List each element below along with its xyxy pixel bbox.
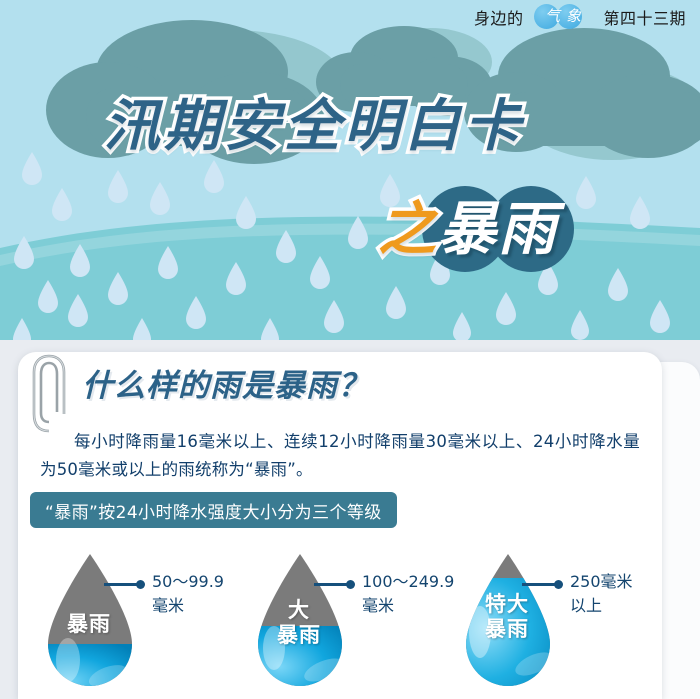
section-heading: 什么样的雨是暴雨？: [82, 366, 370, 406]
connector-dot-1: [136, 580, 145, 589]
rain-level-1-range-line1: 50～99.9: [152, 572, 224, 591]
paperclip-icon: [30, 352, 68, 438]
hero-title: 汛期安全明白卡: [104, 96, 524, 158]
rain-level-3-range-line2: 以上: [570, 596, 602, 615]
subtitle-prefix: 之: [378, 195, 438, 263]
series-label: 身边的: [474, 5, 524, 29]
hero-banner: 身边的 气象 第四十三期 汛期安全明白卡 之暴雨: [0, 0, 700, 340]
rain-level-3: 特大 暴雨 250毫米 以上: [452, 548, 564, 699]
section-banner: “暴雨”按24小时降水强度大小分为三个等级: [30, 492, 397, 528]
rain-level-group: 暴雨 50～99.9 毫米: [0, 548, 700, 699]
raindrop-2-label: 大 暴雨: [244, 598, 354, 648]
connector-2: [314, 580, 360, 588]
section-paragraph: 每小时降雨量16毫米以上、连续12小时降雨量30毫米以上、24小时降水量为50毫…: [40, 428, 640, 484]
connector-line-2: [314, 583, 350, 586]
raindrop-3-label-line1: 特大: [485, 592, 529, 616]
raindrop-2-label-line2: 暴雨: [277, 623, 321, 647]
connector-1: [104, 580, 150, 588]
rain-level-2-range-line2: 毫米: [362, 596, 394, 615]
logo-text: 气象: [530, 4, 596, 29]
rain-level-3-range-line1: 250毫米: [570, 572, 633, 591]
raindrop-1-label: 暴雨: [34, 612, 144, 637]
raindrop-3-label-line2: 暴雨: [485, 617, 529, 641]
issue-label: 第四十三期: [603, 5, 686, 29]
qixiang-logo-icon: 气象: [530, 4, 596, 29]
rain-level-1: 暴雨 50～99.9 毫米: [34, 548, 146, 699]
hero-artwork: [0, 0, 700, 340]
raindrop-2-label-line1: 大: [288, 598, 310, 622]
rain-level-2: 大 暴雨 100～249.9 毫米: [244, 548, 356, 699]
rain-level-1-range-line2: 毫米: [152, 596, 184, 615]
subtitle-main: 暴雨: [438, 195, 558, 263]
connector-line-1: [104, 583, 140, 586]
raindrop-3-label: 特大 暴雨: [452, 592, 562, 642]
issue-meta: 身边的 气象 第四十三期: [474, 4, 686, 29]
rain-level-3-value: 250毫米 以上: [570, 570, 680, 618]
connector-dot-3: [554, 580, 563, 589]
connector-dot-2: [346, 580, 355, 589]
connector-3: [522, 580, 568, 588]
connector-line-3: [522, 583, 558, 586]
infographic-page: 身边的 气象 第四十三期 汛期安全明白卡 之暴雨: [0, 0, 700, 699]
rain-level-2-range-line1: 100～249.9: [362, 572, 454, 591]
